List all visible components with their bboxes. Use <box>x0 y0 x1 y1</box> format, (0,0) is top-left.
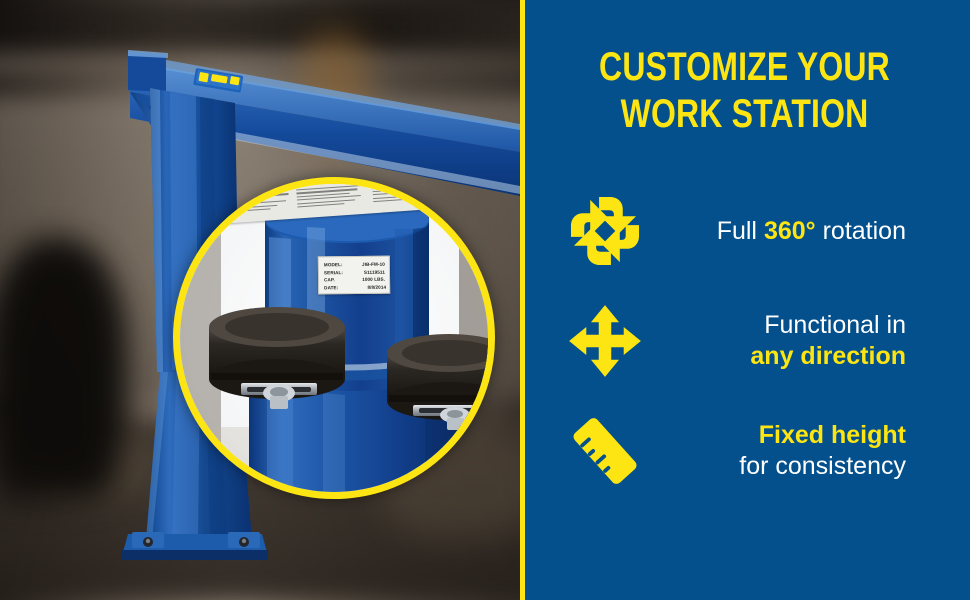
warning-sticker-column-right <box>372 179 445 209</box>
rotation-arrows-icon <box>549 194 661 268</box>
feature-direction-line1: Functional in <box>764 311 906 339</box>
page-title: CUSTOMIZE YOUR WORK STATION <box>588 44 901 138</box>
product-feature-banner: MODEL: JIB-FM-10 SERIAL: S1119511 CAP. 1… <box>0 0 970 600</box>
rotation-collar-closeup <box>173 177 495 499</box>
spec-plate: MODEL: JIB-FM-10 SERIAL: S1119511 CAP. 1… <box>318 256 390 295</box>
headline-line-2: WORK STATION <box>588 91 901 138</box>
warning-sticker-column-middle <box>296 185 369 215</box>
feature-text-height: Fixed height for consistency <box>661 420 906 482</box>
spec-row-date: DATE: 8/8/2014 <box>324 283 385 291</box>
closeup-circle-inset: MODEL: JIB-FM-10 SERIAL: S1119511 CAP. 1… <box>173 177 495 499</box>
headline-line-1: CUSTOMIZE YOUR <box>599 45 890 89</box>
feature-row-direction: Functional in any direction <box>549 286 940 396</box>
spec-label-capacity: CAP. <box>324 276 335 284</box>
spec-label-date: DATE: <box>324 284 338 292</box>
feature-text-rotation: Full 360° rotation <box>661 216 906 247</box>
ruler-icon <box>549 413 661 489</box>
spec-label-serial: SERIAL: <box>324 269 343 277</box>
four-way-arrow-icon <box>549 302 661 380</box>
feature-direction-line2: any direction <box>750 342 906 370</box>
spec-value-date: 8/8/2014 <box>367 283 386 291</box>
feature-rotation-suffix: rotation <box>816 217 906 245</box>
feature-rotation-highlight: 360° <box>764 217 816 245</box>
feature-height-line2: for consistency <box>739 452 906 480</box>
warning-sticker-column-left <box>219 190 292 220</box>
product-photo-panel: MODEL: JIB-FM-10 SERIAL: S1119511 CAP. 1… <box>0 0 520 600</box>
feature-row-height: Fixed height for consistency <box>549 396 940 506</box>
feature-rotation-prefix: Full <box>717 217 764 245</box>
feature-height-line1: Fixed height <box>759 421 906 449</box>
feature-text-direction: Functional in any direction <box>661 310 906 372</box>
feature-row-rotation: Full 360° rotation <box>549 176 940 286</box>
feature-info-panel: CUSTOMIZE YOUR WORK STATION Full 360° ro… <box>525 0 970 600</box>
